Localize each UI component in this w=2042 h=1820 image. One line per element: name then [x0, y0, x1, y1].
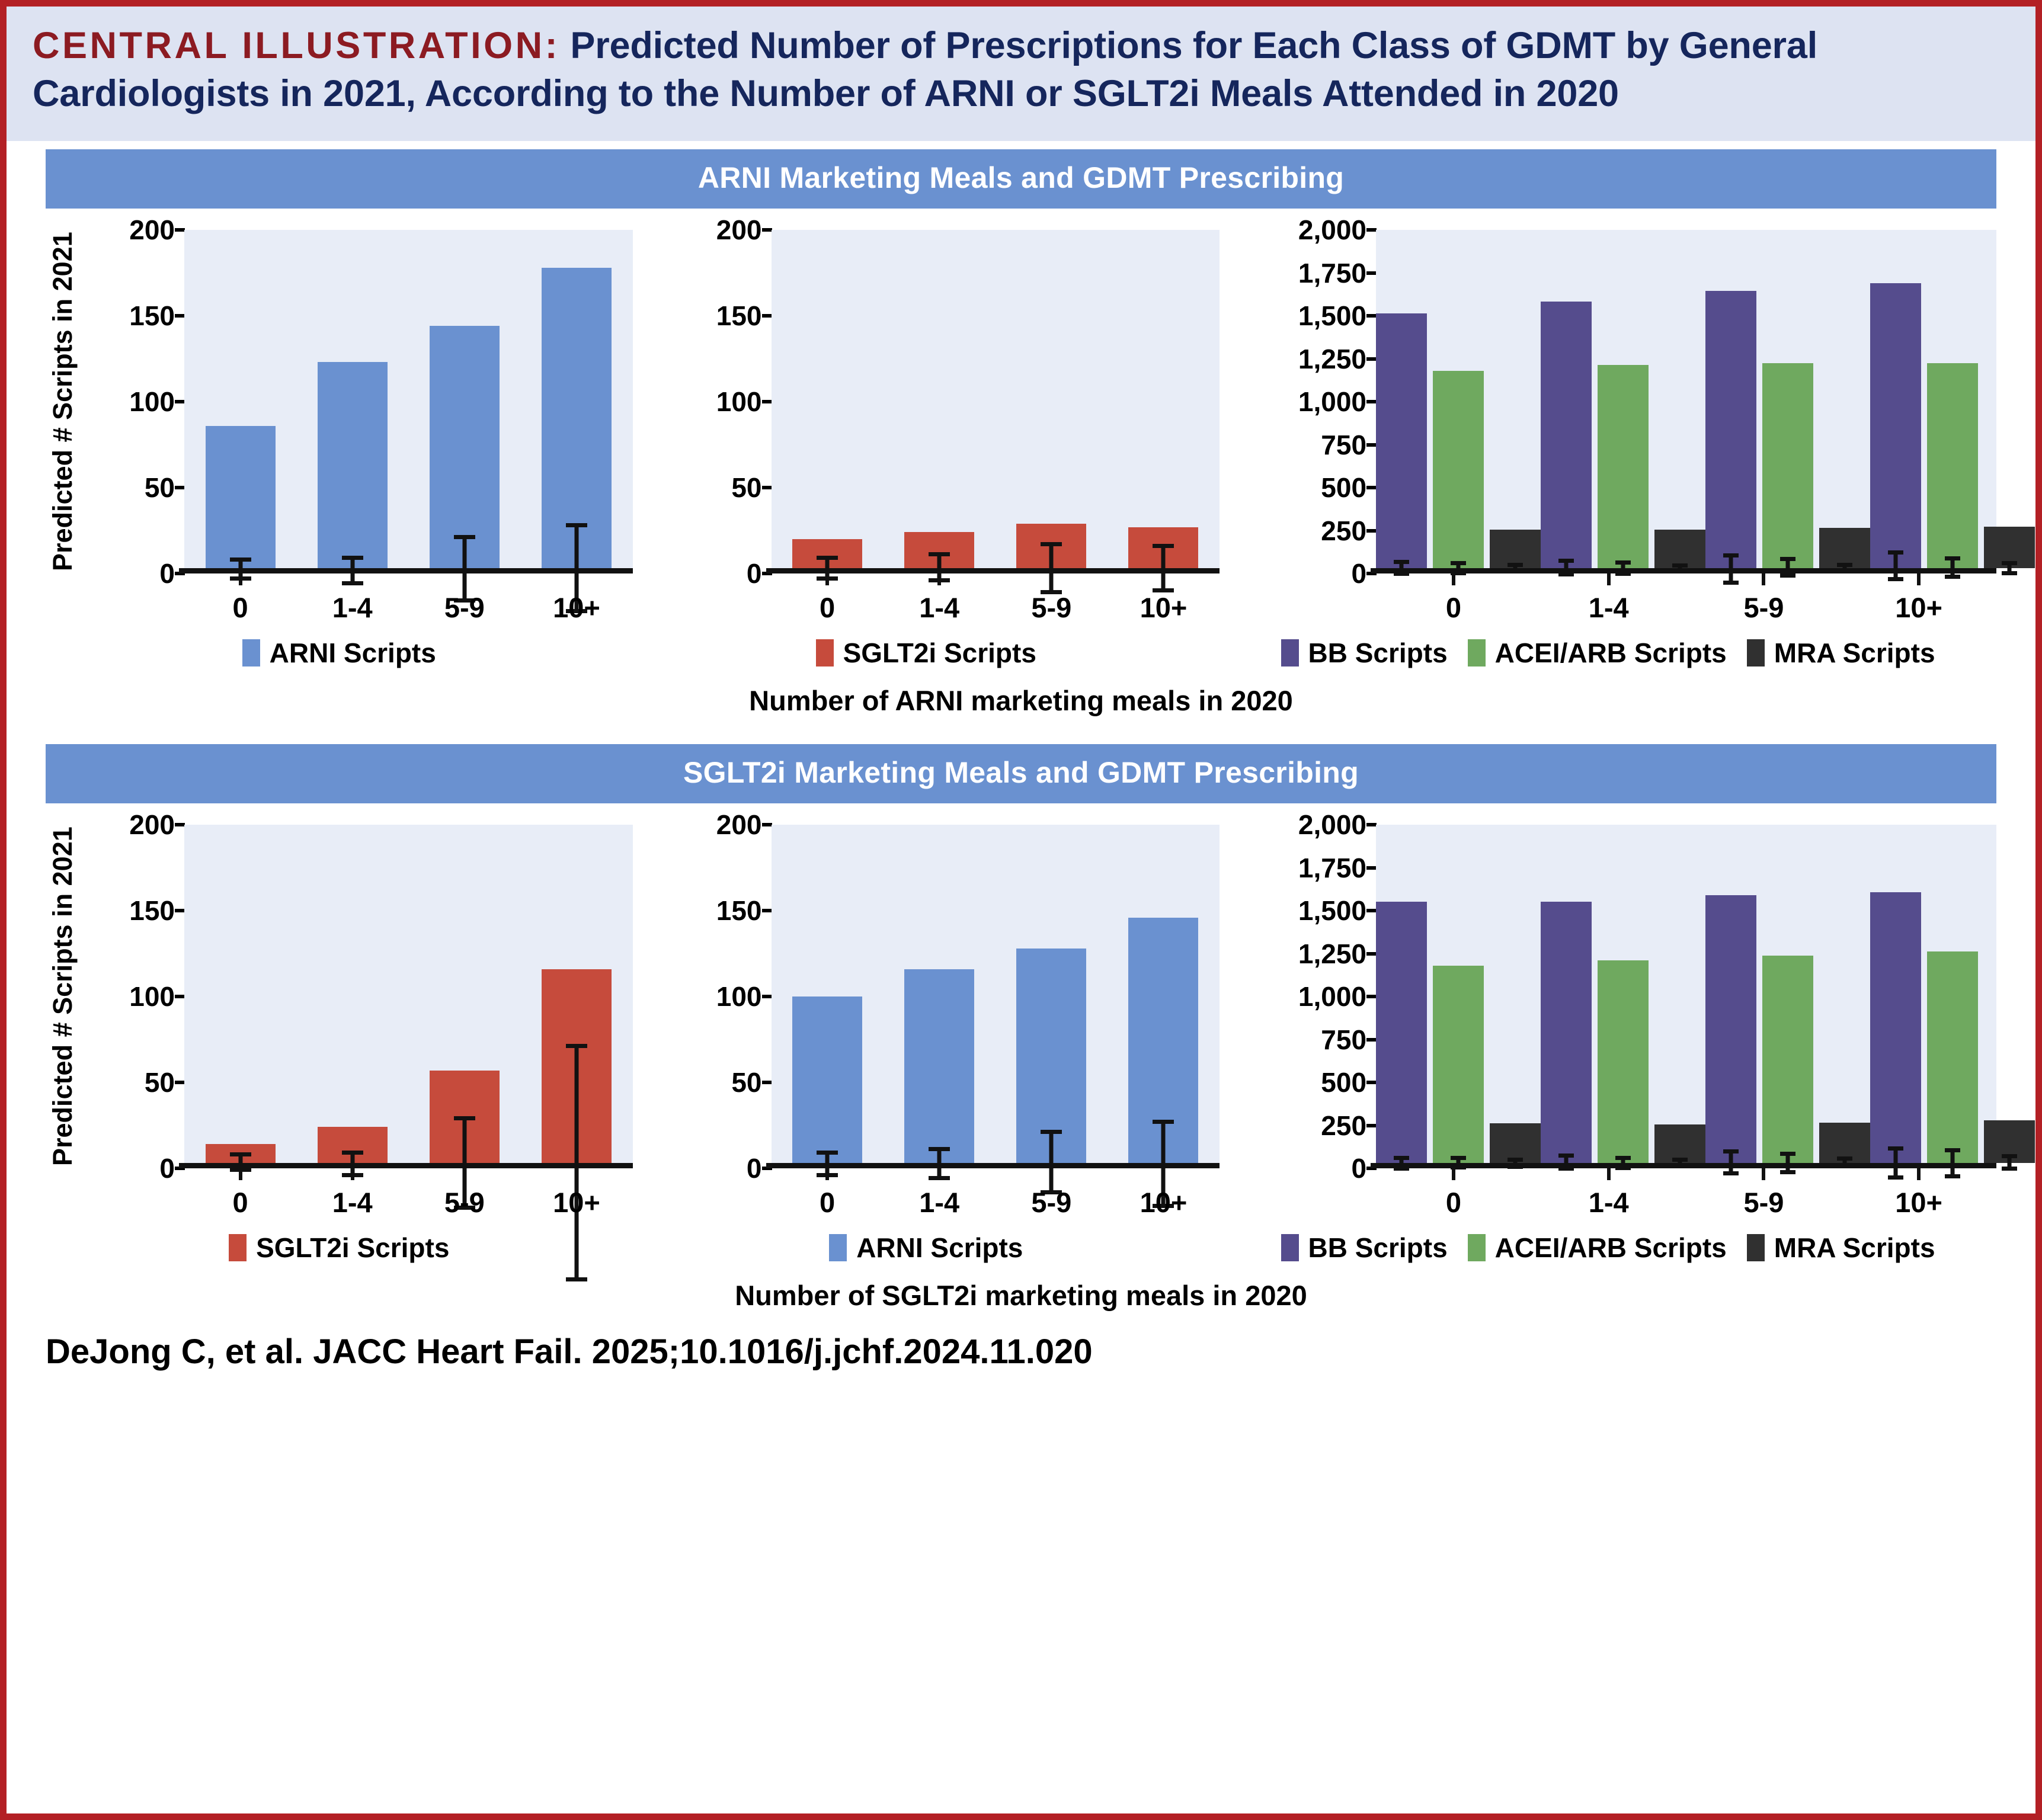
y-axis-tick-label: 100 [716, 386, 762, 418]
error-bar-cap-top [230, 557, 251, 562]
bar-slot [1819, 825, 1870, 1163]
error-bar-cap-bottom [1672, 568, 1688, 572]
bar-arni-scripts[interactable] [792, 996, 862, 1163]
y-axis-tick-label: 0 [747, 1152, 762, 1184]
x-axis-ticks: 01-45-910+ [772, 573, 1220, 624]
bar-slot [1376, 825, 1427, 1163]
chart-panel-arni-meals-arni-scripts: Predicted # Scripts in 20210501001502000… [46, 230, 633, 669]
bars-container [1376, 230, 1996, 568]
y-axis-ticks: 050100150200 [80, 825, 184, 1168]
plot-area: 02505007501,0001,2501,5001,7502,000 [1220, 230, 1996, 573]
plot-area: 050100150200 [633, 230, 1220, 573]
bar-mra-scripts[interactable] [1654, 1124, 1705, 1163]
bar-group [1705, 825, 1870, 1163]
legend-item[interactable]: ACEI/ARB Scripts [1468, 637, 1727, 669]
bar-bb-scripts[interactable] [1376, 902, 1427, 1163]
y-axis-tick-label: 2,000 [1298, 214, 1366, 246]
x-axis-tick-label: 1-4 [1531, 1168, 1686, 1219]
legend-item[interactable]: MRA Scripts [1747, 637, 1935, 669]
x-axis-tick-label: 10+ [1841, 573, 1996, 624]
legend-swatch-icon [816, 639, 834, 667]
error-bar-cap-top [1723, 553, 1739, 557]
legend-swatch-icon [229, 1234, 247, 1261]
y-axis-ticks: 050100150200 [667, 230, 772, 573]
legend-item[interactable]: MRA Scripts [1747, 1232, 1935, 1264]
bar-group [296, 825, 408, 1163]
error-bar [574, 1046, 578, 1280]
x-axis-ticks: 01-45-910+ [184, 573, 633, 624]
chart-panel-arni-meals-sglt2i-scripts: 05010015020001-45-910+SGLT2i Scripts [633, 230, 1220, 669]
error-bar-cap-top [1451, 1156, 1466, 1160]
bar-bb-scripts[interactable] [1541, 302, 1592, 568]
y-axis-tick-label: 1,250 [1298, 938, 1366, 970]
bar-sglt2i-scripts[interactable] [542, 969, 612, 1164]
legend-label: ARNI Scripts [856, 1232, 1023, 1264]
x-axis-tick-label: 0 [184, 573, 296, 624]
x-axis-tick-label: 0 [184, 1168, 296, 1219]
legend-label: ACEI/ARB Scripts [1495, 637, 1727, 669]
bars-container [184, 825, 633, 1163]
x-axis-caption: Number of SGLT2i marketing meals in 2020 [46, 1279, 1996, 1312]
legend-swatch-icon [1468, 639, 1486, 667]
y-axis-label-spacer [1220, 230, 1254, 573]
error-bar-cap-top [1780, 557, 1795, 561]
legend-item[interactable]: BB Scripts [1281, 1232, 1448, 1264]
section-arni: ARNI Marketing Meals and GDMT Prescribin… [7, 149, 2035, 717]
bar-sglt2i-scripts[interactable] [318, 1127, 388, 1163]
bar-mra-scripts[interactable] [1819, 1123, 1870, 1163]
error-bar-cap-top [1945, 1148, 1960, 1152]
error-bar-cap-top [1837, 1156, 1852, 1161]
legend-swatch-icon [1468, 1234, 1486, 1261]
bar-acei-arb-scripts[interactable] [1433, 966, 1484, 1164]
bar-slot [1541, 825, 1592, 1163]
bar-acei-arb-scripts[interactable] [1762, 956, 1813, 1163]
y-axis-tick-label: 750 [1321, 1024, 1366, 1056]
error-bar-cap-top [1394, 560, 1409, 564]
y-axis-tick-label: 50 [145, 1066, 175, 1098]
legend-swatch-icon [1281, 1234, 1299, 1261]
bar-slot [430, 825, 500, 1163]
y-axis-tick-label: 1,500 [1298, 300, 1366, 332]
bar-sglt2i-scripts[interactable] [206, 1144, 276, 1163]
error-bar-cap-bottom [1508, 569, 1523, 573]
bar-slot [1598, 825, 1649, 1163]
x-axis-tick-label: 10+ [520, 573, 632, 624]
title-banner: CENTRAL ILLUSTRATION: Predicted Number o… [7, 7, 2035, 149]
y-axis-tick-label: 1,750 [1298, 257, 1366, 289]
bar-mra-scripts[interactable] [1654, 530, 1705, 568]
x-axis-ticks: 01-45-910+ [772, 1168, 1220, 1219]
bar-arni-scripts[interactable] [1128, 918, 1198, 1164]
bar-slot [1705, 230, 1756, 568]
error-bar-cap-top [1672, 563, 1688, 568]
x-axis-tick-label: 10+ [1841, 1168, 1996, 1219]
x-axis-tick-label: 5-9 [1686, 573, 1842, 624]
error-bar-cap-top [1508, 1158, 1523, 1162]
legend-item[interactable]: BB Scripts [1281, 637, 1448, 669]
y-axis-ticks: 02505007501,0001,2501,5001,7502,000 [1254, 825, 1376, 1168]
x-axis-tick-label: 10+ [520, 1168, 632, 1219]
bar-mra-scripts[interactable] [1490, 530, 1541, 568]
y-axis-tick-label: 0 [747, 557, 762, 589]
error-bar-cap-bottom [1837, 1164, 1852, 1168]
bar-bb-scripts[interactable] [1705, 291, 1756, 568]
plot-area: Predicted # Scripts in 2021050100150200 [46, 825, 633, 1168]
error-bar-cap-top [2002, 561, 2017, 565]
plot-area: Predicted # Scripts in 2021050100150200 [46, 230, 633, 573]
bar-slot [1128, 230, 1198, 568]
y-axis-tick-label: 100 [716, 981, 762, 1012]
bar-acei-arb-scripts[interactable] [1762, 363, 1813, 569]
bar-arni-scripts[interactable] [1016, 949, 1086, 1164]
bars-container [184, 230, 633, 568]
legend-swatch-icon [242, 639, 260, 667]
bar-group [996, 230, 1108, 568]
error-bar-cap-top [1153, 544, 1174, 548]
bar-group [1541, 825, 1705, 1163]
error-bar-cap-bottom [1837, 569, 1852, 573]
bar-acei-arb-scripts[interactable] [1927, 951, 1978, 1163]
x-axis-tick-label: 1-4 [296, 573, 408, 624]
chart-legend: SGLT2i Scripts [633, 637, 1220, 669]
bar-slot [542, 230, 612, 568]
bar-group [1541, 230, 1705, 568]
y-axis-tick-label: 100 [129, 981, 175, 1012]
bar-group [996, 825, 1108, 1163]
error-bar-cap-top [566, 1044, 587, 1048]
error-bar-cap-top [566, 523, 587, 527]
bar-slot [1927, 230, 1978, 568]
legend-label: BB Scripts [1308, 637, 1448, 669]
bar-slot [1870, 230, 1921, 568]
x-axis-tick-label: 1-4 [884, 1168, 996, 1219]
bar-slot [1433, 230, 1484, 568]
error-bar-cap-top [1558, 559, 1574, 563]
bar-arni-scripts[interactable] [318, 362, 388, 568]
bar-slot [318, 230, 388, 568]
x-axis-tick-label: 1-4 [884, 573, 996, 624]
bar-slot [1128, 825, 1198, 1163]
error-bar-cap-top [454, 535, 475, 539]
x-axis-ticks: 01-45-910+ [1376, 573, 1996, 624]
plot-canvas [1376, 825, 1996, 1168]
plot-area: 02505007501,0001,2501,5001,7502,000 [1220, 825, 1996, 1168]
bar-slot [206, 230, 276, 568]
y-axis-tick-label: 1,750 [1298, 852, 1366, 884]
x-axis-tick-label: 1-4 [296, 1168, 408, 1219]
error-bar-cap-top [1888, 550, 1903, 555]
bar-slot [206, 825, 276, 1163]
chart-legend: ARNI Scripts [633, 1232, 1220, 1264]
chart-panel-sglt2i-meals-other-gdmt: 02505007501,0001,2501,5001,7502,00001-45… [1220, 825, 1996, 1264]
bar-group [772, 825, 884, 1163]
legend-item[interactable]: SGLT2i Scripts [229, 1232, 449, 1264]
section-sglt2i: SGLT2i Marketing Meals and GDMT Prescrib… [7, 744, 2035, 1312]
error-bar-cap-top [1615, 1156, 1631, 1160]
y-axis-tick-label: 200 [716, 809, 762, 841]
error-bar-cap-top [1394, 1156, 1409, 1160]
error-bar-cap-top [1508, 563, 1523, 567]
y-axis-tick-label: 100 [129, 386, 175, 418]
legend-label: MRA Scripts [1774, 637, 1935, 669]
error-bar-cap-top [1672, 1158, 1688, 1162]
error-bar-cap-top [454, 1116, 475, 1120]
y-axis-tick-label: 500 [1321, 1066, 1366, 1098]
bar-group [772, 230, 884, 568]
y-axis-tick-label: 200 [129, 214, 175, 246]
bar-group [1705, 230, 1870, 568]
bar-group [884, 230, 996, 568]
error-bar-cap-top [1615, 560, 1631, 565]
chart-legend: ARNI Scripts [46, 637, 633, 669]
y-axis-tick-label: 750 [1321, 429, 1366, 461]
y-axis-tick-label: 0 [159, 1152, 175, 1184]
bar-slot [1984, 230, 2035, 568]
x-axis-tick-label: 0 [772, 1168, 884, 1219]
y-axis-tick-label: 0 [1351, 1152, 1366, 1184]
bar-slot [1819, 230, 1870, 568]
chart-panel-sglt2i-meals-arni-scripts: 05010015020001-45-910+ARNI Scripts [633, 825, 1220, 1264]
bar-slot [904, 230, 974, 568]
bar-slot [1490, 825, 1541, 1163]
bar-group [520, 230, 632, 568]
bar-group [1376, 825, 1541, 1163]
bar-bb-scripts[interactable] [1376, 313, 1427, 568]
y-axis-label: Predicted # Scripts in 2021 [46, 230, 80, 573]
x-axis-caption: Number of ARNI marketing meals in 2020 [46, 684, 1996, 717]
bar-mra-scripts[interactable] [1819, 528, 1870, 568]
y-axis-tick-label: 50 [731, 472, 761, 504]
bar-mra-scripts[interactable] [1984, 1120, 2035, 1163]
plot-canvas [184, 230, 633, 573]
bar-slot [430, 230, 500, 568]
y-axis-tick-label: 50 [145, 472, 175, 504]
bars-container [1376, 825, 1996, 1163]
bars-container [772, 825, 1220, 1163]
chart-legend: SGLT2i Scripts [46, 1232, 633, 1264]
bar-slot [542, 825, 612, 1163]
y-axis-tick-label: 200 [129, 809, 175, 841]
error-bar-cap-top [1837, 563, 1852, 567]
error-bar-cap-top [342, 556, 363, 560]
y-axis-tick-label: 1,250 [1298, 343, 1366, 375]
error-bar-cap-top [1780, 1152, 1795, 1156]
legend-label: ARNI Scripts [270, 637, 436, 669]
bar-bb-scripts[interactable] [1870, 283, 1921, 568]
panel-row: Predicted # Scripts in 20210501001502000… [46, 230, 1996, 669]
bar-slot [1705, 825, 1756, 1163]
error-bar-cap-top [2002, 1154, 2017, 1158]
bar-group [296, 230, 408, 568]
y-axis-tick-label: 1,500 [1298, 895, 1366, 927]
bar-group [520, 825, 632, 1163]
y-axis-ticks: 050100150200 [80, 230, 184, 573]
error-bar-cap-top [929, 1147, 950, 1151]
plot-canvas [1376, 230, 1996, 573]
bar-bb-scripts[interactable] [1870, 892, 1921, 1163]
bar-sglt2i-scripts[interactable] [430, 1071, 500, 1164]
y-axis-tick-label: 150 [716, 300, 762, 332]
bar-arni-scripts[interactable] [542, 268, 612, 569]
bar-bb-scripts[interactable] [1541, 902, 1592, 1163]
y-axis-label: Predicted # Scripts in 2021 [46, 825, 80, 1168]
error-bar-cap-top [1041, 542, 1062, 546]
bar-slot [1984, 825, 2035, 1163]
y-axis-ticks: 050100150200 [667, 825, 772, 1168]
bar-bb-scripts[interactable] [1705, 895, 1756, 1163]
bar-slot [1541, 230, 1592, 568]
bar-sglt2i-scripts[interactable] [792, 539, 862, 568]
bar-slot [1927, 825, 1978, 1163]
bar-sglt2i-scripts[interactable] [904, 532, 974, 568]
y-axis-label-spacer [633, 825, 667, 1168]
bar-slot [1490, 230, 1541, 568]
error-bar-cap-top [1451, 561, 1466, 565]
panel-row: Predicted # Scripts in 20210501001502000… [46, 825, 1996, 1264]
plot-canvas [184, 825, 633, 1168]
legend-item[interactable]: ARNI Scripts [242, 637, 436, 669]
x-axis-tick-label: 0 [1376, 573, 1531, 624]
central-illustration-label: CENTRAL ILLUSTRATION: [33, 25, 560, 66]
bar-slot [792, 230, 862, 568]
error-bar-cap-top [230, 1152, 251, 1156]
page-title: CENTRAL ILLUSTRATION: Predicted Number o… [33, 22, 2009, 117]
y-axis-ticks: 02505007501,0001,2501,5001,7502,000 [1254, 230, 1376, 573]
bar-acei-arb-scripts[interactable] [1598, 365, 1649, 568]
bar-slot [1870, 825, 1921, 1163]
error-bar-cap-top [1945, 556, 1960, 560]
bar-slot [792, 825, 862, 1163]
bar-arni-scripts[interactable] [904, 969, 974, 1164]
bar-arni-scripts[interactable] [206, 426, 276, 569]
legend-swatch-icon [1281, 639, 1299, 667]
error-bar-cap-top [342, 1151, 363, 1155]
y-axis-tick-label: 150 [129, 300, 175, 332]
central-illustration-figure: { "title": { "label": "CENTRAL ILLUSTRAT… [0, 0, 2042, 1820]
x-axis-tick-label: 5-9 [408, 573, 520, 624]
section-header: SGLT2i Marketing Meals and GDMT Prescrib… [46, 744, 1996, 803]
bar-slot [904, 825, 974, 1163]
citation-footer: DeJong C, et al. JACC Heart Fail. 2025;1… [7, 1312, 2035, 1372]
bar-acei-arb-scripts[interactable] [1598, 960, 1649, 1163]
bar-mra-scripts[interactable] [1490, 1123, 1541, 1163]
error-bar-cap-top [817, 1151, 838, 1155]
x-axis-tick-label: 0 [1376, 1168, 1531, 1219]
bar-acei-arb-scripts[interactable] [1927, 363, 1978, 569]
x-axis-tick-label: 0 [772, 573, 884, 624]
bar-slot [318, 825, 388, 1163]
x-axis-ticks: 01-45-910+ [1376, 1168, 1996, 1219]
legend-label: ACEI/ARB Scripts [1495, 1232, 1727, 1264]
y-axis-tick-label: 1,000 [1298, 386, 1366, 418]
chart-panel-sglt2i-meals-sglt2i-scripts: Predicted # Scripts in 20210501001502000… [46, 825, 633, 1264]
error-bar-cap-bottom [566, 1277, 587, 1281]
bar-group [408, 825, 520, 1163]
y-axis-tick-label: 500 [1321, 472, 1366, 504]
y-axis-label-spacer [1220, 825, 1254, 1168]
error-bar-cap-top [929, 552, 950, 556]
bar-group [1376, 230, 1541, 568]
x-axis-tick-label: 10+ [1108, 1168, 1220, 1219]
legend-item[interactable]: ACEI/ARB Scripts [1468, 1232, 1727, 1264]
y-axis-tick-label: 0 [159, 557, 175, 589]
y-axis-tick-label: 2,000 [1298, 809, 1366, 841]
y-axis-tick-label: 0 [1351, 557, 1366, 589]
sections-container: ARNI Marketing Meals and GDMT Prescribin… [7, 149, 2035, 1312]
legend-label: SGLT2i Scripts [256, 1232, 449, 1264]
y-axis-tick-label: 150 [716, 895, 762, 927]
bar-group [1870, 825, 2035, 1163]
error-bar-cap-top [1888, 1146, 1903, 1151]
legend-swatch-icon [829, 1234, 847, 1261]
plot-canvas [772, 230, 1220, 573]
bar-acei-arb-scripts[interactable] [1433, 371, 1484, 569]
bar-sglt2i-scripts[interactable] [1016, 524, 1086, 568]
bar-slot [1762, 825, 1813, 1163]
chart-legend: BB ScriptsACEI/ARB ScriptsMRA Scripts [1220, 637, 1996, 669]
plot-canvas [772, 825, 1220, 1168]
error-bar-cap-bottom [2002, 1167, 2017, 1171]
legend-swatch-icon [1747, 639, 1765, 667]
bar-slot [1433, 825, 1484, 1163]
legend-item[interactable]: SGLT2i Scripts [816, 637, 1036, 669]
bar-group [184, 825, 296, 1163]
y-axis-tick-label: 50 [731, 1066, 761, 1098]
section-header: ARNI Marketing Meals and GDMT Prescribin… [46, 149, 1996, 209]
legend-label: MRA Scripts [1774, 1232, 1935, 1264]
x-axis-tick-label: 5-9 [408, 1168, 520, 1219]
y-axis-tick-label: 200 [716, 214, 762, 246]
bar-mra-scripts[interactable] [1984, 527, 2035, 569]
bar-group [184, 230, 296, 568]
bar-group [1108, 825, 1220, 1163]
y-axis-tick-label: 250 [1321, 515, 1366, 547]
chart-legend: BB ScriptsACEI/ARB ScriptsMRA Scripts [1220, 1232, 1996, 1264]
x-axis-tick-label: 5-9 [996, 573, 1108, 624]
x-axis-ticks: 01-45-910+ [184, 1168, 633, 1219]
legend-item[interactable]: ARNI Scripts [829, 1232, 1023, 1264]
bar-group [884, 825, 996, 1163]
bar-slot [1598, 230, 1649, 568]
error-bar-cap-top [817, 556, 838, 560]
bar-slot [1376, 230, 1427, 568]
error-bar-cap-top [1558, 1153, 1574, 1158]
bar-slot [1654, 230, 1705, 568]
error-bar-cap-top [1041, 1130, 1062, 1134]
y-axis-label-spacer [633, 230, 667, 573]
error-bar-cap-top [1723, 1149, 1739, 1153]
error-bar-cap-top [1153, 1120, 1174, 1124]
y-axis-tick-label: 1,000 [1298, 981, 1366, 1012]
x-axis-tick-label: 5-9 [996, 1168, 1108, 1219]
bar-arni-scripts[interactable] [430, 326, 500, 568]
x-axis-tick-label: 1-4 [1531, 573, 1686, 624]
bar-group [1108, 230, 1220, 568]
bars-container [772, 230, 1220, 568]
y-axis-tick-label: 150 [129, 895, 175, 927]
legend-label: SGLT2i Scripts [843, 637, 1036, 669]
x-axis-tick-label: 5-9 [1686, 1168, 1842, 1219]
bar-slot [1016, 825, 1086, 1163]
bar-sglt2i-scripts[interactable] [1128, 527, 1198, 569]
bar-slot [1762, 230, 1813, 568]
bar-group [1870, 230, 2035, 568]
legend-swatch-icon [1747, 1234, 1765, 1261]
chart-panel-arni-meals-other-gdmt: 02505007501,0001,2501,5001,7502,00001-45… [1220, 230, 1996, 669]
y-axis-tick-label: 250 [1321, 1110, 1366, 1142]
legend-label: BB Scripts [1308, 1232, 1448, 1264]
